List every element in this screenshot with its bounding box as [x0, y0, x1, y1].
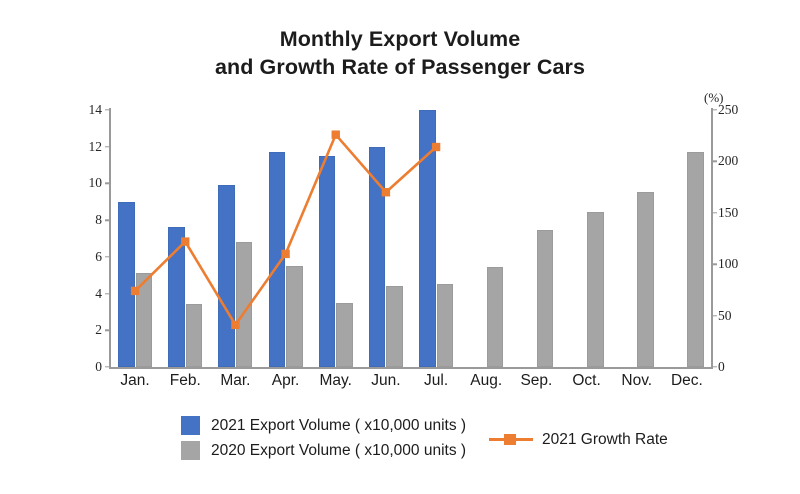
x-axis-label-Oct: Oct.: [572, 372, 600, 390]
bar-2020-Nov[interactable]: [637, 192, 654, 367]
bar-2021-Feb[interactable]: [168, 227, 185, 367]
legend-swatch-blue-icon: [181, 416, 200, 435]
left-axis-tick-label: 2: [56, 322, 102, 338]
chart-title-line-1: Monthly Export Volume: [280, 27, 521, 51]
bar-2021-Jan[interactable]: [118, 202, 135, 367]
x-axis-label-Dec: Dec.: [671, 372, 703, 390]
bar-2020-Jan[interactable]: [136, 273, 153, 367]
x-axis-label-Mar: Mar.: [220, 372, 250, 390]
right-axis-tick-mark: [712, 212, 717, 213]
legend-label-2020-export-volume: 2020 Export Volume ( x10,000 units ): [211, 442, 466, 460]
right-axis-tick-label: 200: [718, 153, 764, 169]
bar-2020-Sep[interactable]: [537, 230, 554, 367]
x-axis-label-Aug: Aug.: [470, 372, 502, 390]
bar-2020-Feb[interactable]: [186, 304, 203, 367]
bar-2020-Dec[interactable]: [687, 152, 704, 367]
bar-2020-Jul[interactable]: [437, 284, 454, 367]
bar-2020-Aug[interactable]: [487, 267, 504, 367]
chart-title-line-2: and Growth Rate of Passenger Cars: [0, 54, 800, 82]
left-axis-tick-label: 0: [56, 359, 102, 375]
bar-2021-Apr[interactable]: [269, 152, 286, 367]
left-axis-tick-label: 14: [56, 102, 102, 118]
x-axis-label-Sep: Sep.: [520, 372, 552, 390]
x-axis-label-Apr: Apr.: [272, 372, 300, 390]
right-axis-tick-label: 50: [718, 308, 764, 324]
x-axis-label-Feb: Feb.: [170, 372, 201, 390]
bar-2020-Apr[interactable]: [286, 266, 303, 367]
bar-2021-May[interactable]: [319, 156, 336, 367]
legend-item-2021-growth-rate[interactable]: 2021 Growth Rate: [489, 430, 668, 449]
left-axis-tick-label: 4: [56, 286, 102, 302]
bar-2020-Mar[interactable]: [236, 242, 253, 367]
x-axis-line: [109, 367, 713, 369]
legend-item-2021-export-volume[interactable]: 2021 Export Volume ( x10,000 units ): [181, 416, 466, 435]
plot-area: [110, 110, 712, 367]
right-axis-tick-mark: [712, 366, 717, 367]
growth-rate-point-May[interactable]: [332, 130, 340, 138]
bar-2020-May[interactable]: [336, 303, 353, 367]
left-axis-tick-label: 10: [56, 175, 102, 191]
right-axis-tick-mark: [712, 109, 717, 110]
bar-2021-Jun[interactable]: [369, 147, 386, 367]
left-axis-tick-label: 8: [56, 212, 102, 228]
legend-swatch-gray-icon: [181, 441, 200, 460]
legend-label-2021-export-volume: 2021 Export Volume ( x10,000 units ): [211, 417, 466, 435]
x-axis-label-May: May.: [320, 372, 352, 390]
chart-container: Monthly Export Volume and Growth Rate of…: [0, 0, 800, 494]
right-axis-tick-label: 0: [718, 359, 764, 375]
right-axis-tick-mark: [712, 315, 717, 316]
x-axis-label-Jul: Jul.: [424, 372, 448, 390]
left-axis-tick-label: 12: [56, 139, 102, 155]
legend-label-2021-growth-rate: 2021 Growth Rate: [542, 431, 668, 449]
right-axis-tick-label: 250: [718, 102, 764, 118]
chart-legend: 2021 Export Volume ( x10,000 units ) 202…: [0, 408, 800, 468]
bar-2020-Jun[interactable]: [386, 286, 403, 367]
left-axis-tick-label: 6: [56, 249, 102, 265]
x-axis-label-Nov: Nov.: [621, 372, 652, 390]
right-axis-tick-label: 100: [718, 256, 764, 272]
bar-2021-Jul[interactable]: [419, 110, 436, 367]
legend-item-2020-export-volume[interactable]: 2020 Export Volume ( x10,000 units ): [181, 441, 466, 460]
right-axis-tick-mark: [712, 161, 717, 162]
legend-line-marker-icon: [489, 430, 533, 449]
chart-title: Monthly Export Volume and Growth Rate of…: [0, 26, 800, 82]
right-axis-tick-mark: [712, 263, 717, 264]
bar-2021-Mar[interactable]: [218, 185, 235, 367]
bar-2020-Oct[interactable]: [587, 212, 604, 367]
x-axis-label-Jun: Jun.: [371, 372, 400, 390]
x-axis-label-Jan: Jan.: [120, 372, 149, 390]
right-axis-tick-label: 150: [718, 205, 764, 221]
